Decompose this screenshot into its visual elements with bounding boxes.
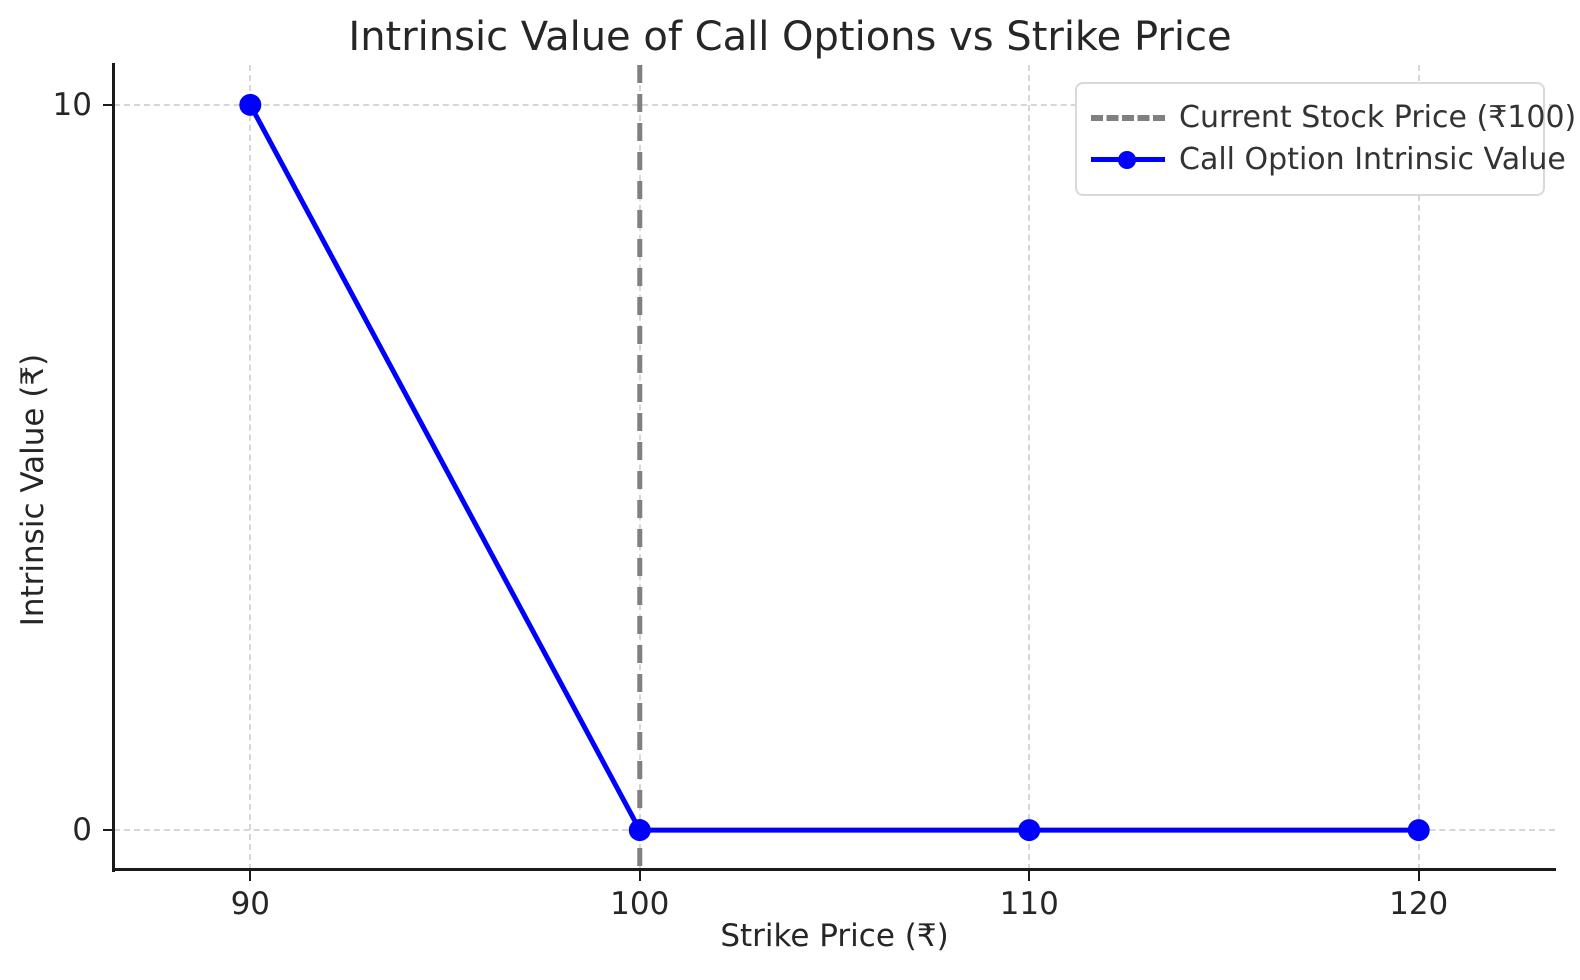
gridline-vertical [249,65,251,870]
x-tick-mark [1028,871,1030,881]
x-tick-mark [249,871,251,881]
x-tick-label: 110 [949,886,1109,922]
y-tick-mark [103,829,114,831]
x-tick-label: 100 [560,886,720,922]
gridline-vertical [1028,65,1030,870]
legend-label-call-option-intrinsic-value: Call Option Intrinsic Value [1179,142,1566,177]
chart-legend: Current Stock Price (₹100) Call Option I… [1075,82,1545,196]
x-tick-label: 90 [170,886,330,922]
y-axis-spine [112,63,115,872]
legend-label-current-stock-price: Current Stock Price (₹100) [1179,100,1576,135]
x-axis-spine [112,868,1556,871]
x-axis-label: Strike Price (₹) [114,918,1555,954]
legend-item-current-stock-price: Current Stock Price (₹100) [1091,96,1529,138]
dashed-line-swatch-icon [1091,102,1165,132]
gridline-vertical [639,65,641,870]
y-tick-mark [103,104,114,106]
x-tick-mark [639,871,641,881]
line-marker-swatch-icon [1091,144,1165,174]
x-tick-mark [1418,871,1420,881]
chart-figure: Intrinsic Value of Call Options vs Strik… [0,0,1580,980]
x-tick-label: 120 [1339,886,1499,922]
legend-item-call-option-intrinsic-value: Call Option Intrinsic Value [1091,138,1529,180]
chart-title: Intrinsic Value of Call Options vs Strik… [0,14,1580,60]
y-axis-label: Intrinsic Value (₹) [10,0,56,980]
gridline-horizontal [114,829,1555,831]
